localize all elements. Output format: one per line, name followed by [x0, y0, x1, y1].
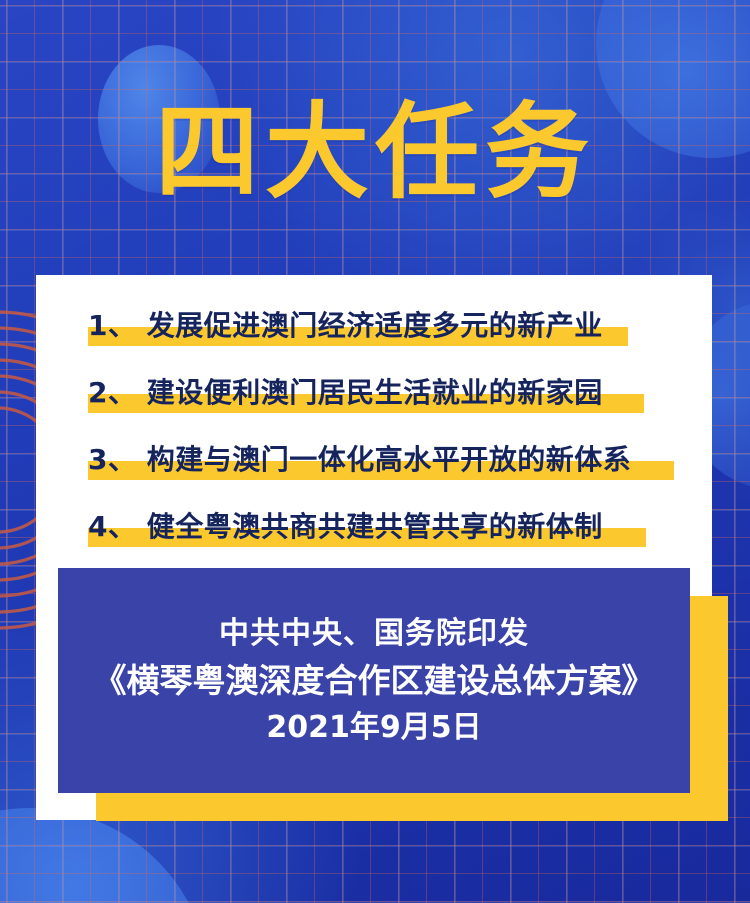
footer-block: 中共中央、国务院印发 《横琴粤澳深度合作区建设总体方案》 2021年9月5日 — [58, 568, 690, 793]
task-item-label: 1、 发展促进澳门经济适度多元的新产业 — [88, 304, 603, 344]
task-list: 1、 发展促进澳门经济适度多元的新产业 2、 建设便利澳门居民生活就业的新家园 … — [36, 293, 712, 561]
footer-blue-box: 中共中央、国务院印发 《横琴粤澳深度合作区建设总体方案》 2021年9月5日 — [58, 568, 690, 793]
task-list-item: 4、 健全粤澳共商共建共管共享的新体制 — [36, 494, 712, 556]
footer-issuer-line: 中共中央、国务院印发 — [219, 611, 529, 656]
task-item-label: 4、 健全粤澳共商共建共管共享的新体制 — [88, 505, 603, 545]
page-title: 四大任务 — [0, 96, 750, 208]
footer-date: 2021年9月5日 — [266, 705, 481, 750]
task-list-item: 2、 建设便利澳门居民生活就业的新家园 — [36, 360, 712, 422]
task-item-label: 3、 构建与澳门一体化高水平开放的新体系 — [88, 438, 631, 478]
task-list-item: 1、 发展促进澳门经济适度多元的新产业 — [36, 293, 712, 355]
content-card: 1、 发展促进澳门经济适度多元的新产业 2、 建设便利澳门居民生活就业的新家园 … — [36, 275, 712, 820]
footer-document-title: 《横琴粤澳深度合作区建设总体方案》 — [94, 656, 655, 706]
task-list-item: 3、 构建与澳门一体化高水平开放的新体系 — [36, 427, 712, 489]
poster-root: 四大任务 1、 发展促进澳门经济适度多元的新产业 2、 建设便利澳门居民生活就业… — [0, 0, 750, 903]
task-item-label: 2、 建设便利澳门居民生活就业的新家园 — [88, 371, 603, 411]
